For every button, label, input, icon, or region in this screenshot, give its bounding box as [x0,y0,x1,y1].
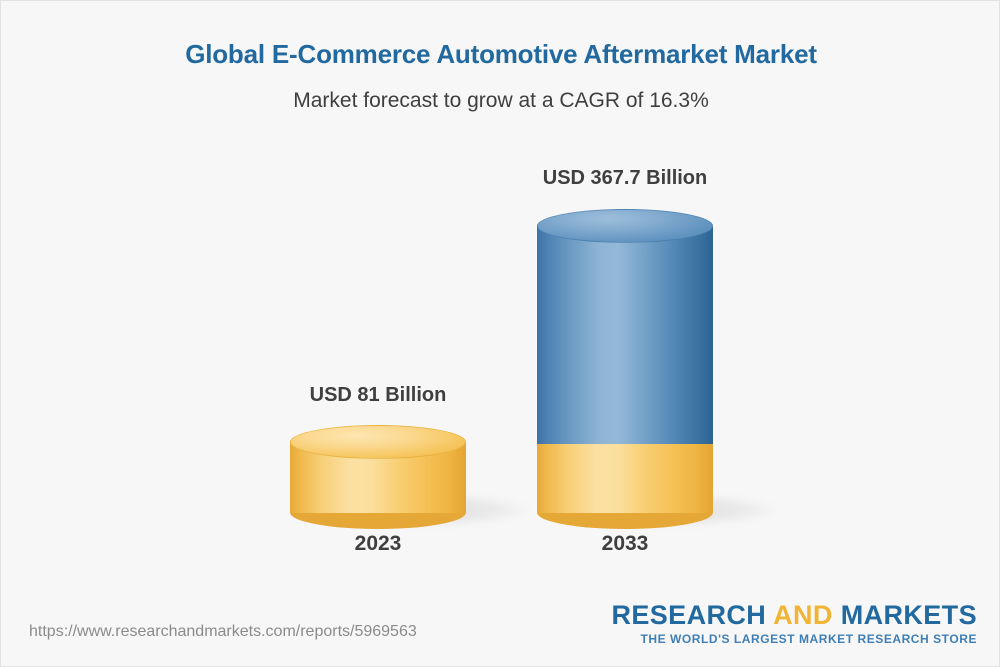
cylinder-top-cap-2023 [290,425,466,459]
logo-wordmark: RESEARCH AND MARKETS [611,601,977,629]
cylinder-base-segment-2033 [537,444,713,513]
logo-word-and: AND [773,600,841,630]
report-url[interactable]: https://www.researchandmarkets.com/repor… [29,623,417,641]
cylinder-top-cap-2033 [537,209,713,243]
researchandmarkets-logo[interactable]: RESEARCH AND MARKETS THE WORLD'S LARGEST… [611,601,977,646]
cylinder-growth-segment-2033 [537,226,713,444]
category-label-2033: 2033 [475,532,775,556]
value-label-2023: USD 81 Billion [228,384,528,407]
logo-word-markets: MARKETS [841,600,977,630]
logo-tagline: THE WORLD'S LARGEST MARKET RESEARCH STOR… [611,632,977,646]
logo-word-research: RESEARCH [611,600,773,630]
chart-canvas: Global E-Commerce Automotive Aftermarket… [0,0,1000,667]
value-label-2033: USD 367.7 Billion [475,167,775,190]
plot-area: USD 81 Billion 2023 USD 367.7 Billion [1,1,1000,601]
